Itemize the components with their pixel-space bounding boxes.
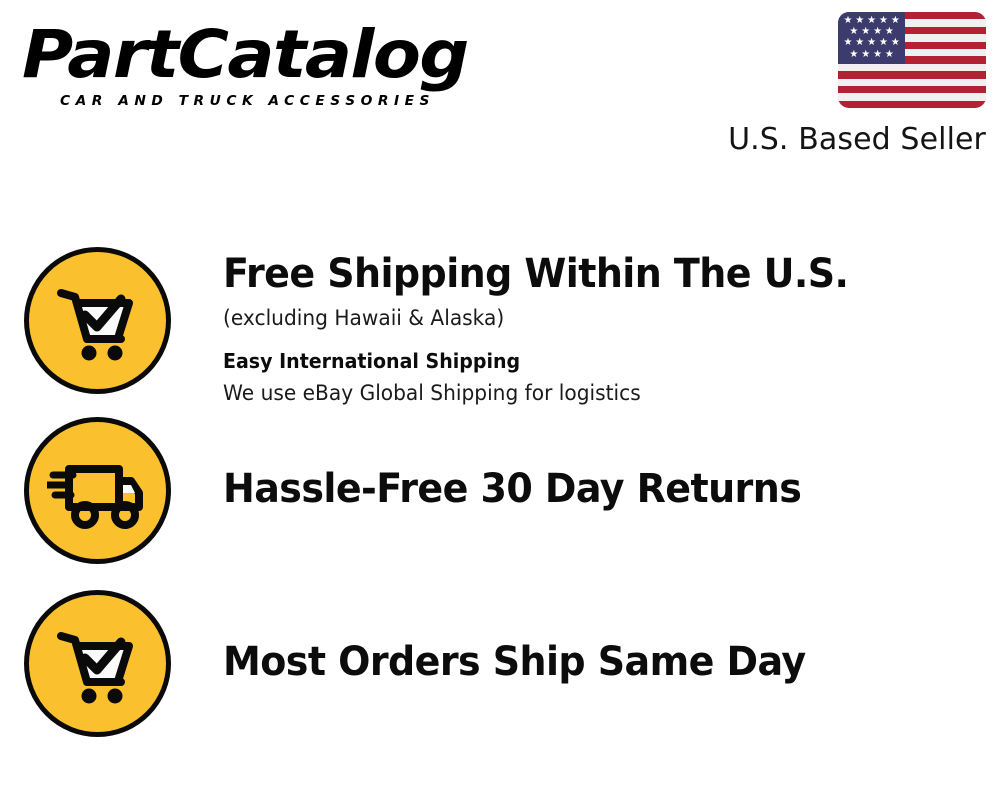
shopping-cart-check-icon — [24, 247, 171, 394]
star-icon: ★ — [867, 38, 876, 48]
star-icon: ★ — [885, 27, 894, 37]
star-icon: ★ — [873, 27, 882, 37]
star-icon: ★ — [855, 38, 864, 48]
star-icon: ★ — [891, 38, 900, 48]
shopping-cart-check-icon — [24, 590, 171, 737]
badge-text-block: Most Orders Ship Same Day — [200, 588, 1000, 683]
star-icon: ★ — [867, 16, 876, 26]
badge-row-same-day-ship: Most Orders Ship Same Day — [0, 588, 1000, 763]
badge-subheadline: Easy International Shipping — [223, 349, 961, 373]
star-icon: ★ — [861, 27, 870, 37]
flag-star-row: ★ ★ ★ ★ — [842, 27, 901, 37]
badge-text-block: Hassle-Free 30 Day Returns — [200, 415, 1000, 510]
badge-icon-wrap — [0, 245, 200, 394]
star-icon: ★ — [861, 50, 870, 60]
flag-star-row: ★ ★ ★ ★ ★ — [842, 38, 901, 48]
badge-headline: Free Shipping Within The U.S. — [223, 253, 961, 295]
badge-text-block: Free Shipping Within The U.S. (excluding… — [200, 245, 1000, 406]
badge-subnote: (excluding Hawaii & Alaska) — [223, 306, 969, 331]
flag-star-row: ★ ★ ★ ★ ★ — [842, 16, 901, 26]
brand-logo[interactable]: PartCatalog CAR AND TRUCK ACCESSORIES — [22, 22, 492, 109]
badge-row-free-shipping: Free Shipping Within The U.S. (excluding… — [0, 245, 1000, 420]
star-icon: ★ — [849, 27, 858, 37]
badge-icon-wrap — [0, 588, 200, 737]
star-icon: ★ — [873, 50, 882, 60]
badge-headline: Hassle-Free 30 Day Returns — [223, 468, 961, 510]
star-icon: ★ — [885, 50, 894, 60]
star-icon: ★ — [849, 50, 858, 60]
us-based-seller-label: U.S. Based Seller — [716, 125, 986, 155]
page-header: PartCatalog CAR AND TRUCK ACCESSORIES ★ … — [0, 0, 1000, 170]
star-icon: ★ — [855, 16, 864, 26]
delivery-truck-icon — [24, 417, 171, 564]
us-flag-icon: ★ ★ ★ ★ ★ ★ ★ ★ ★ ★ ★ ★ ★ ★ — [838, 12, 986, 108]
brand-tagline: CAR AND TRUCK ACCESSORIES — [60, 95, 501, 109]
star-icon: ★ — [879, 16, 888, 26]
badge-subdescription: We use eBay Global Shipping for logistic… — [223, 381, 969, 406]
star-icon: ★ — [843, 38, 852, 48]
badge-headline: Most Orders Ship Same Day — [223, 641, 961, 683]
star-icon: ★ — [843, 16, 852, 26]
star-icon: ★ — [879, 38, 888, 48]
flag-canton: ★ ★ ★ ★ ★ ★ ★ ★ ★ ★ ★ ★ ★ ★ — [838, 12, 905, 64]
us-based-seller-badge: ★ ★ ★ ★ ★ ★ ★ ★ ★ ★ ★ ★ ★ ★ — [716, 12, 986, 155]
brand-wordmark: PartCatalog — [22, 22, 520, 88]
badge-icon-wrap — [0, 415, 200, 564]
flag-star-row: ★ ★ ★ ★ — [842, 50, 901, 60]
badge-row-returns: Hassle-Free 30 Day Returns — [0, 415, 1000, 590]
star-icon: ★ — [891, 16, 900, 26]
